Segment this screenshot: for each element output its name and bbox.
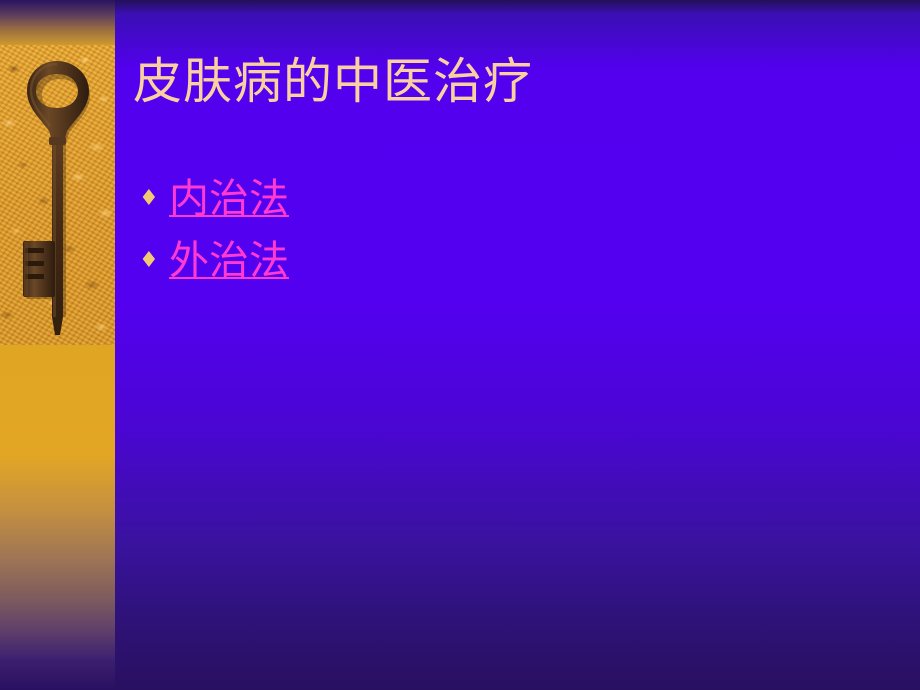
sidebar-decoration xyxy=(0,0,115,690)
bullet-list: ♦ 内治法 ♦ 外治法 xyxy=(137,168,817,292)
diamond-bullet-icon: ♦ xyxy=(137,250,169,272)
link-internal-treatment[interactable]: 内治法 xyxy=(169,176,289,222)
link-external-treatment[interactable]: 外治法 xyxy=(169,238,289,284)
list-item[interactable]: ♦ 内治法 xyxy=(137,168,817,230)
list-item[interactable]: ♦ 外治法 xyxy=(137,230,817,292)
diamond-bullet-icon: ♦ xyxy=(137,188,169,210)
antique-key-icon xyxy=(0,45,115,345)
presentation-slide: 皮肤病的中医治疗 ♦ 内治法 ♦ 外治法 xyxy=(0,0,920,690)
slide-title: 皮肤病的中医治疗 xyxy=(133,52,833,112)
